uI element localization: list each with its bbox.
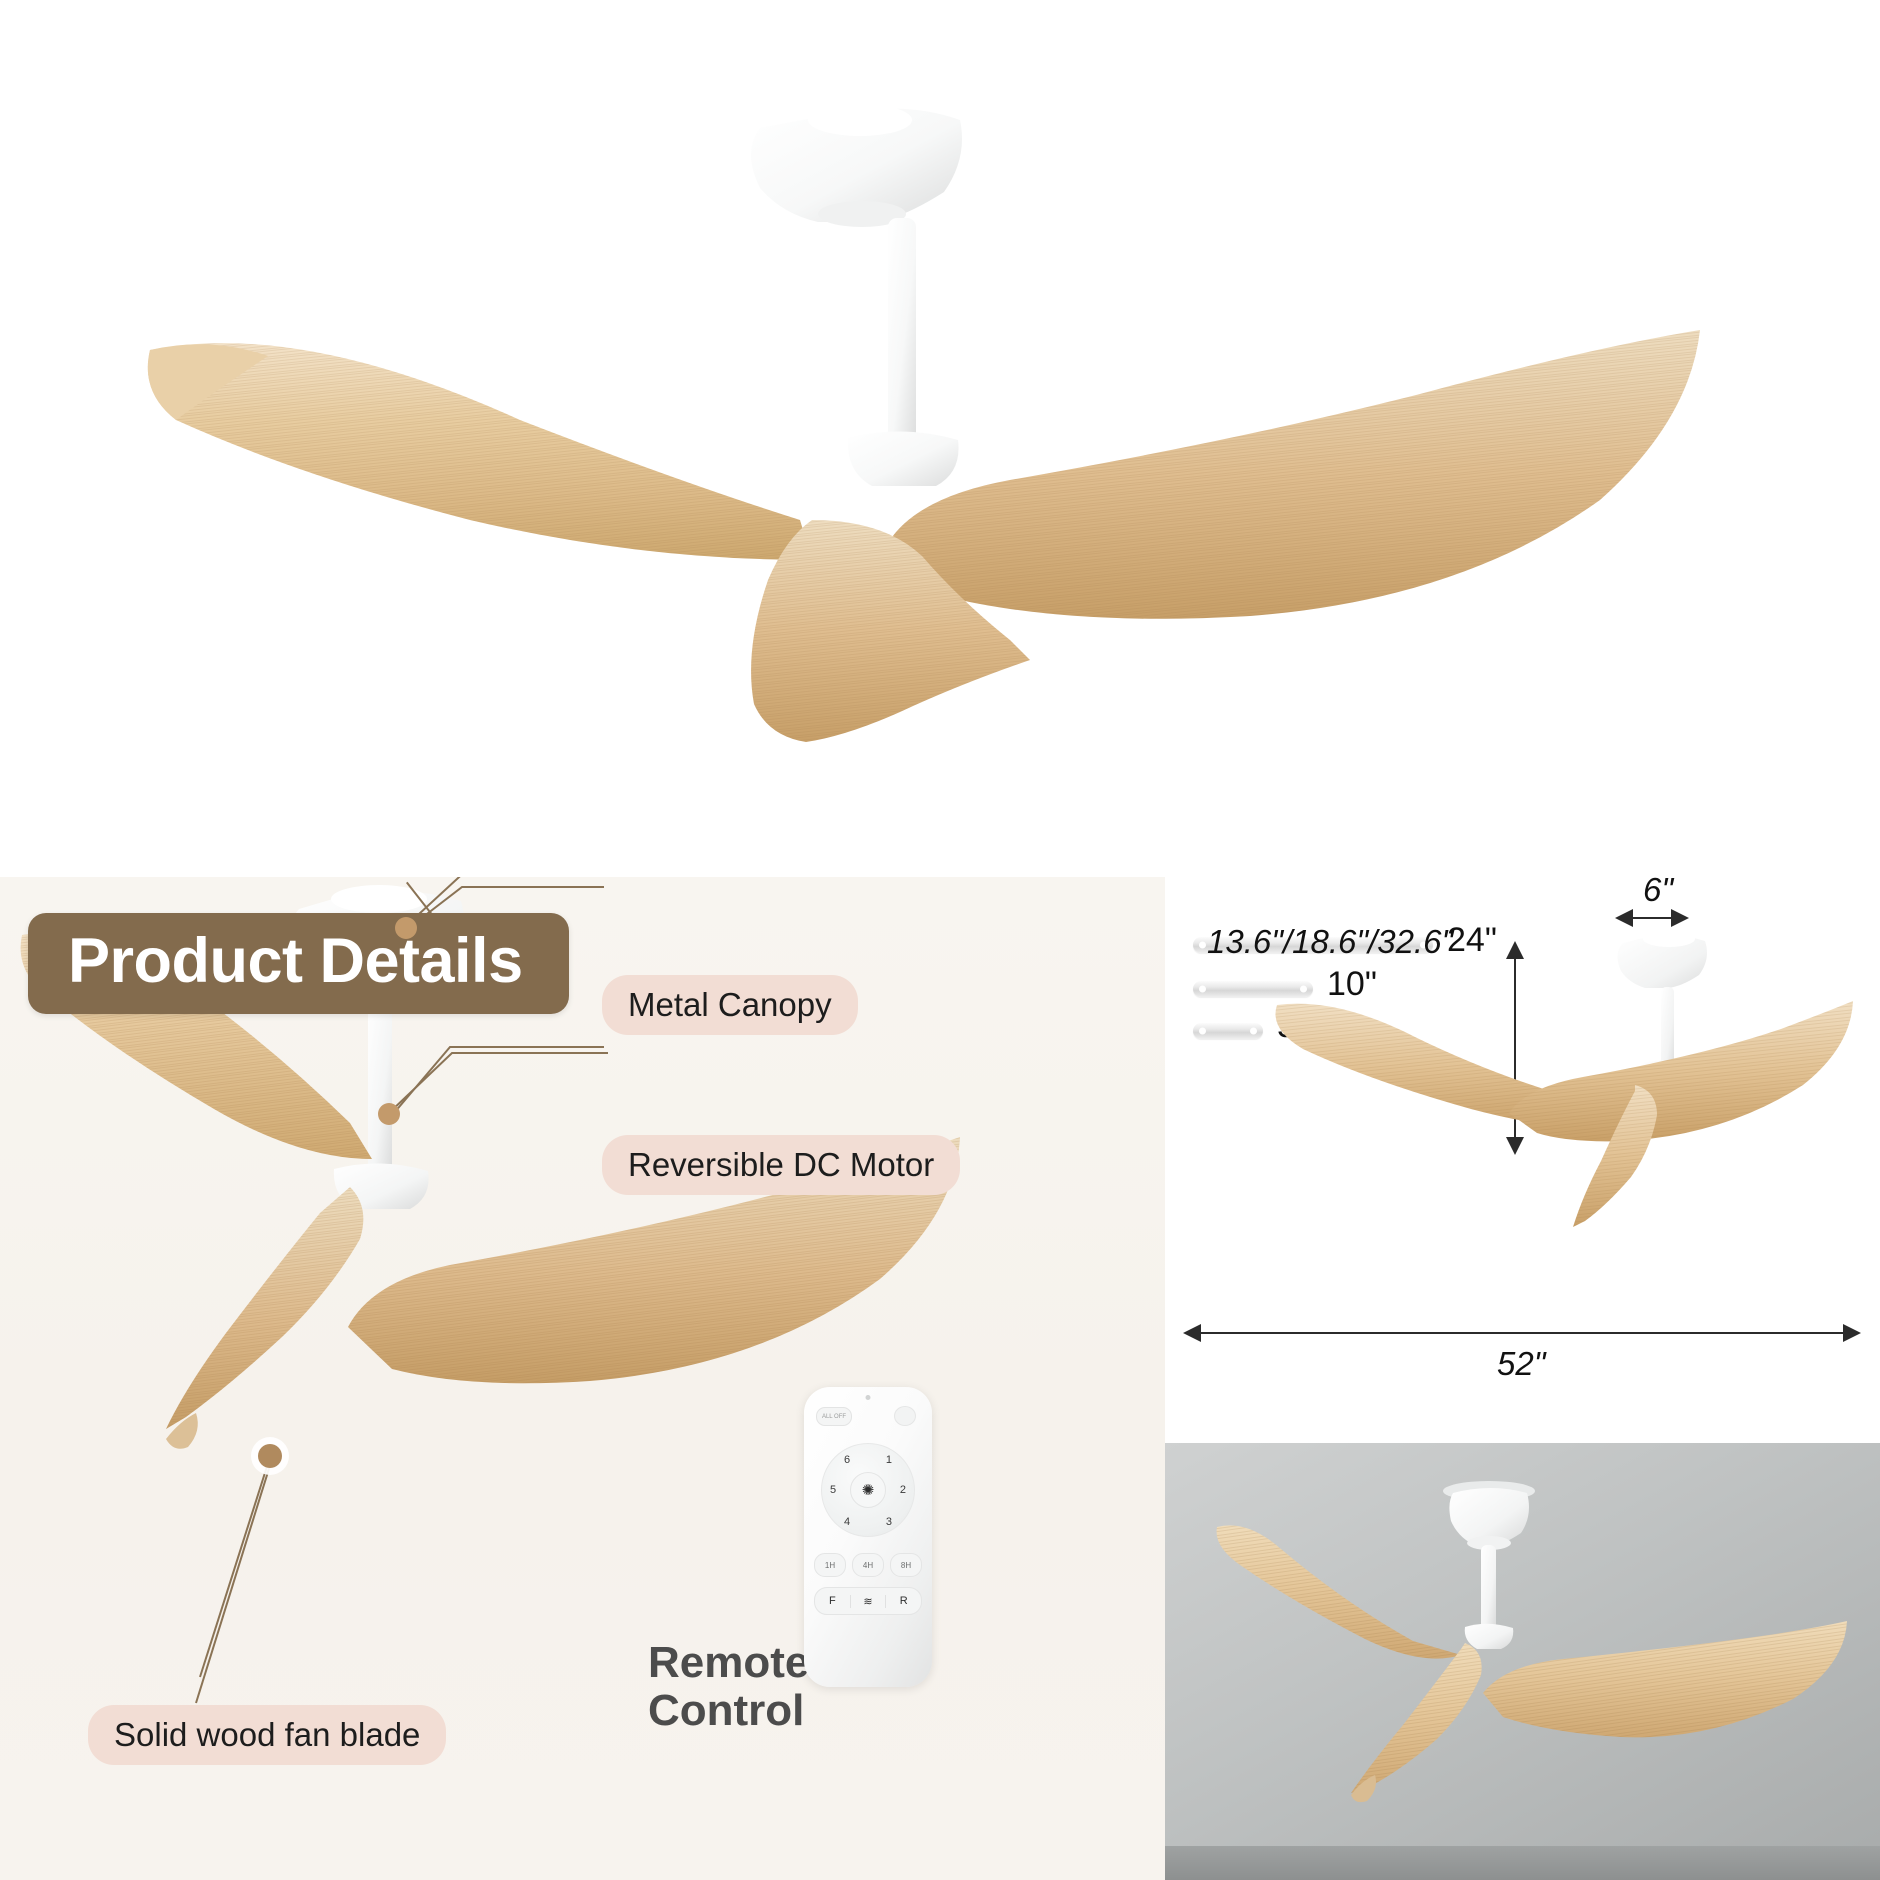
details-blade-lower [166, 1187, 363, 1449]
photo-blade-right [1483, 1621, 1847, 1737]
fan-icon: ✺ [862, 1483, 875, 1498]
product-details-panel: Product Details [0, 877, 1165, 1880]
remote-mode-row: F ≋ R [814, 1587, 922, 1615]
remote-speed-6[interactable]: 6 [844, 1454, 850, 1466]
hero-blade-left [148, 343, 812, 560]
remote-timer-row: 1H 4H 8H [814, 1553, 922, 1577]
dim-canopy [1617, 931, 1707, 988]
product-details-badge: Product Details [28, 913, 569, 1014]
callout-reversible-dc-motor-label: Reversible DC Motor [628, 1146, 934, 1184]
remote-light-button[interactable] [894, 1406, 916, 1426]
callout-reversible-dc-motor: Reversible DC Motor [602, 1135, 960, 1195]
remote-speed-4[interactable]: 4 [844, 1516, 850, 1528]
remote-mode-reverse[interactable]: R [886, 1595, 921, 1607]
details-downrod [368, 991, 392, 1177]
anchor-metal-canopy [395, 917, 417, 939]
dimension-fan-illustration [1165, 877, 1880, 1443]
photo-downrod [1481, 1545, 1496, 1633]
anchor-wood-blade [258, 1444, 282, 1468]
remote-title-line2: Control [648, 1687, 809, 1735]
remote-timer-4h[interactable]: 4H [852, 1553, 884, 1577]
dim-downrod [1661, 987, 1674, 1069]
remote-control-block: Remote Control ALL OFF ✺ 6 1 5 [648, 1387, 1108, 1817]
hero-motor-housing [848, 431, 959, 486]
hero-downrod [888, 218, 916, 448]
dimension-panel: 24" 10" 5" 6" 13.6"/18.6"/32.6" 52" [1165, 877, 1880, 1443]
remote-control-title: Remote Control [648, 1639, 809, 1734]
remote-speed-dial[interactable]: ✺ 6 1 5 2 4 3 [821, 1443, 915, 1537]
photo-blade-lower-left [1351, 1643, 1482, 1802]
anchor-dc-motor [378, 1103, 400, 1125]
remote-mode-forward[interactable]: F [815, 1595, 850, 1607]
remote-speed-2[interactable]: 2 [900, 1484, 906, 1496]
photo-canopy [1443, 1481, 1535, 1550]
product-detail-image: Product Details [0, 0, 1880, 1880]
remote-timer-1h[interactable]: 1H [814, 1553, 846, 1577]
remote-control-device: ALL OFF ✺ 6 1 5 2 4 3 1H [804, 1387, 932, 1687]
hero-canopy [751, 104, 962, 227]
callout-metal-canopy: Metal Canopy [602, 975, 858, 1035]
remote-speed-5[interactable]: 5 [830, 1484, 836, 1496]
callout-metal-canopy-label: Metal Canopy [628, 986, 832, 1024]
dim-blade-right [1509, 1001, 1853, 1141]
photo-motor-housing [1465, 1624, 1514, 1649]
remote-timer-8h[interactable]: 8H [890, 1553, 922, 1577]
callout-solid-wood-fan-blade: Solid wood fan blade [88, 1705, 446, 1765]
remote-dial-center[interactable]: ✺ [850, 1472, 886, 1508]
lifestyle-photo [1165, 1443, 1880, 1880]
remote-power-label: ALL OFF [822, 1414, 846, 1420]
remote-speed-3[interactable]: 3 [886, 1516, 892, 1528]
remote-power-button[interactable]: ALL OFF [816, 1407, 852, 1426]
lifestyle-fan-illustration [1165, 1443, 1880, 1880]
remote-title-line1: Remote [648, 1639, 809, 1687]
photo-blade-upper-left [1217, 1525, 1461, 1658]
callout-solid-wood-fan-blade-label: Solid wood fan blade [114, 1716, 420, 1754]
product-details-title: Product Details [68, 930, 523, 993]
hero-product-image [0, 0, 1880, 877]
remote-ir-led [866, 1395, 871, 1400]
hero-fan-illustration [0, 0, 1880, 877]
breeze-icon[interactable]: ≋ [850, 1595, 887, 1608]
hero-blade-right [880, 330, 1700, 619]
remote-speed-1[interactable]: 1 [886, 1454, 892, 1466]
